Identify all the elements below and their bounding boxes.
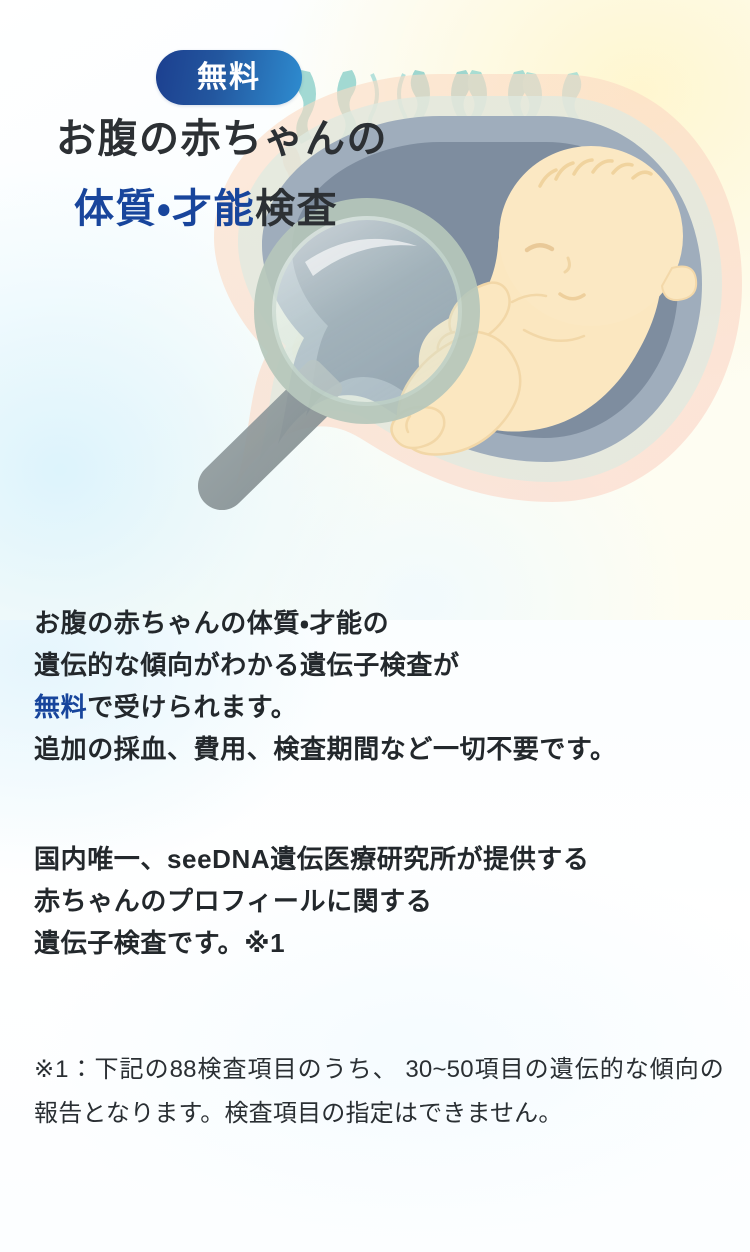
intro-line-3: 無料で受けられます。 (34, 686, 724, 728)
baby-shoulder-crease (512, 295, 546, 302)
magnifier-icon (198, 209, 469, 510)
intro-line-3-highlight: 無料 (34, 692, 87, 722)
page-root: 無料 お腹の赤ちゃんの 体質・才能検査 お腹の赤ちゃんの体質・才能の 遺伝的な傾… (0, 0, 750, 1252)
womb-wall (262, 116, 702, 462)
footnote-note-1: ※1：下記の88検査項目のうち、 30~50項目の遺伝的な傾向の報告となります。… (34, 1048, 724, 1136)
provider-line-3: 遺伝子検査です。※1 (34, 922, 724, 964)
baby-hand (438, 332, 460, 357)
baby-torso-crease (524, 330, 584, 341)
intro-line-1: お腹の赤ちゃんの体質・才能の (34, 602, 724, 644)
baby-body (419, 200, 661, 432)
baby-mouth (560, 294, 584, 299)
provider-line-1: 国内唯一、seeDNA遺伝医療研究所が提供する (34, 838, 724, 880)
baby-eye (527, 245, 552, 250)
free-badge-label: 無料 (197, 63, 261, 93)
baby-ear (662, 267, 696, 301)
intro-line-2: 遺伝的な傾向がわかる遺伝子検査が (34, 644, 724, 686)
magnifier-ring (265, 209, 469, 413)
fetus-in-womb-illustration-svg (0, 0, 750, 560)
magnifier-handle (198, 375, 335, 510)
hero-title-highlight: 体質・才能 (74, 187, 255, 231)
background-gradient-top (0, 0, 750, 700)
baby-toe (406, 416, 410, 432)
provider-line-2: 赤ちゃんのプロフィールに関する (34, 880, 724, 922)
magnifier-neck (292, 356, 346, 410)
baby-arm (449, 283, 509, 343)
magnifier-lens (272, 216, 462, 406)
baby-leg (398, 332, 520, 455)
baby-head (499, 146, 683, 326)
hero-title-suffix: 検査 (255, 187, 338, 231)
provider-paragraph: 国内唯一、seeDNA遺伝医療研究所が提供する 赤ちゃんのプロフィールに関する … (34, 838, 724, 964)
baby-foot (391, 407, 444, 448)
hero-title-line-1: お腹の赤ちゃんの (56, 119, 388, 159)
baby-nose (565, 258, 569, 272)
hero-illustration (0, 0, 750, 560)
intro-paragraph: お腹の赤ちゃんの体質・才能の 遺伝的な傾向がわかる遺伝子検査が 無料で受けられま… (34, 602, 724, 770)
intro-line-3-rest: で受けられます。 (87, 692, 297, 722)
womb-inner-cavity (292, 142, 678, 438)
magnifier-lens-shine (305, 239, 417, 276)
free-badge: 無料 (156, 50, 302, 105)
hero-title-line-2: 体質・才能検査 (74, 189, 338, 229)
intro-line-4: 追加の採血、費用、検査期間など一切不要です。 (34, 728, 724, 770)
hero-title-line-1-text: お腹の赤ちゃんの (56, 117, 388, 161)
baby-hair (540, 160, 651, 186)
